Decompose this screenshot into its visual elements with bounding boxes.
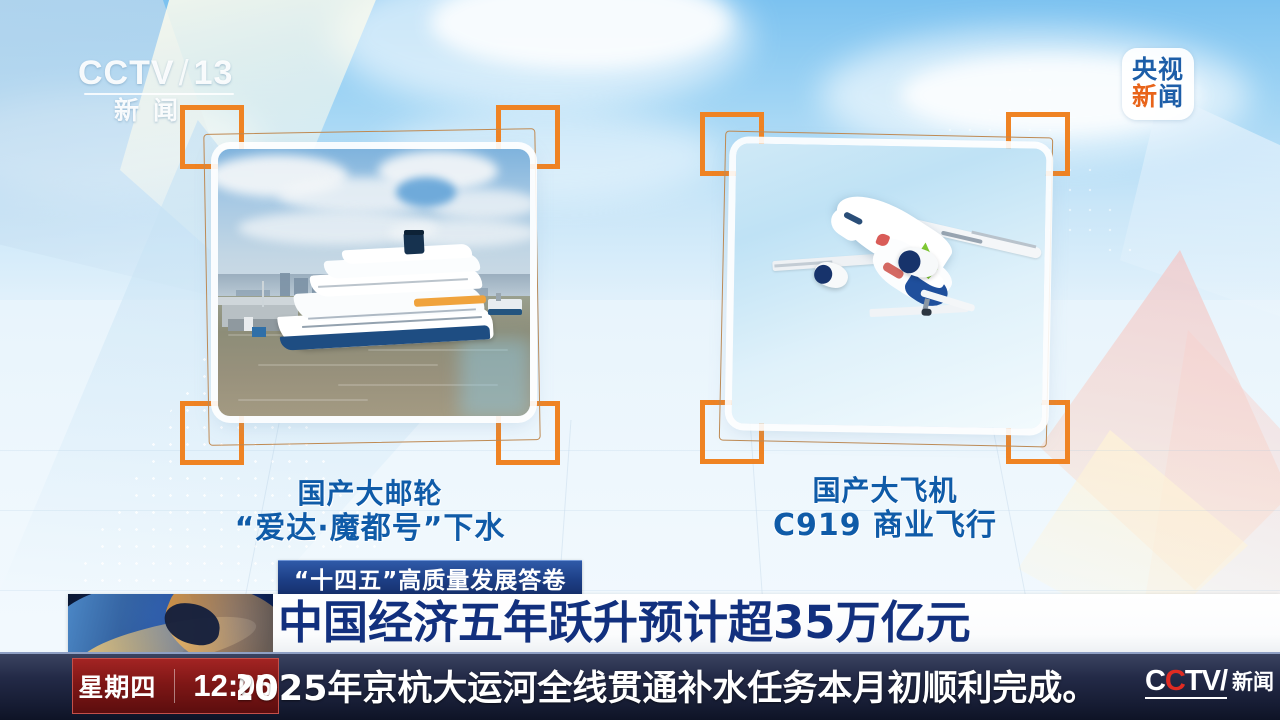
- globe-graphic: [68, 594, 273, 652]
- ticker-logo-sub: 新闻: [1232, 672, 1274, 694]
- watermark-cctv-text: CCTV: [78, 55, 175, 91]
- headline-text: 中国经济五年跃升预计超35万亿元: [278, 598, 971, 648]
- kicker-text: “十四五”高质量发展答卷: [294, 561, 566, 595]
- weekday-label: 星期四: [78, 668, 156, 704]
- broadcast-frame: CCTV / 13 新闻 央视 新闻: [0, 0, 1280, 720]
- ticker-text-area: 闻 2025年京杭大运河全线贯通补水任务本月初顺利完成。: [238, 656, 1118, 714]
- brand-logo-wen: 闻: [1158, 83, 1184, 111]
- kicker-banner: “十四五”高质量发展答卷: [278, 560, 582, 595]
- caption-line1: 国产大飞机: [670, 474, 1100, 508]
- photo-c919-aircraft: [732, 143, 1047, 428]
- ticker-message: 2025年京杭大运河全线贯通补水任务本月初顺利完成。: [238, 660, 1097, 711]
- card-cruise-ship[interactable]: 国产大邮轮 “爱达·魔都号”下水: [180, 105, 560, 465]
- watermark-channel-number: 13: [194, 55, 234, 91]
- card-c919-aircraft[interactable]: 国产大飞机 C919 商业飞行: [700, 112, 1070, 464]
- watermark-underline: [84, 93, 234, 95]
- ticker-logo-cctv: CCTV/: [1145, 666, 1227, 699]
- caption-c919-aircraft: 国产大飞机 C919 商业飞行: [670, 474, 1100, 544]
- photo-cruise-ship: [218, 149, 530, 416]
- ticker-cctv-logo: CCTV/ 新闻: [1145, 666, 1274, 699]
- caption-line2: C919 商业飞行: [670, 508, 1100, 544]
- caption-line1: 国产大邮轮: [140, 477, 600, 511]
- caption-cruise-ship: 国产大邮轮 “爱达·魔都号”下水: [140, 477, 600, 547]
- brand-logo-line2: 新闻: [1132, 84, 1184, 111]
- brand-logo-line1: 央视: [1132, 57, 1184, 84]
- brand-logo: 央视 新闻: [1122, 48, 1194, 120]
- clock-divider: [174, 669, 175, 703]
- watermark-slash: /: [179, 55, 190, 91]
- caption-line2: “爱达·魔都号”下水: [140, 511, 600, 547]
- brand-logo-xin: 新: [1132, 83, 1158, 111]
- headline-container: 中国经济五年跃升预计超35万亿元: [278, 596, 1118, 650]
